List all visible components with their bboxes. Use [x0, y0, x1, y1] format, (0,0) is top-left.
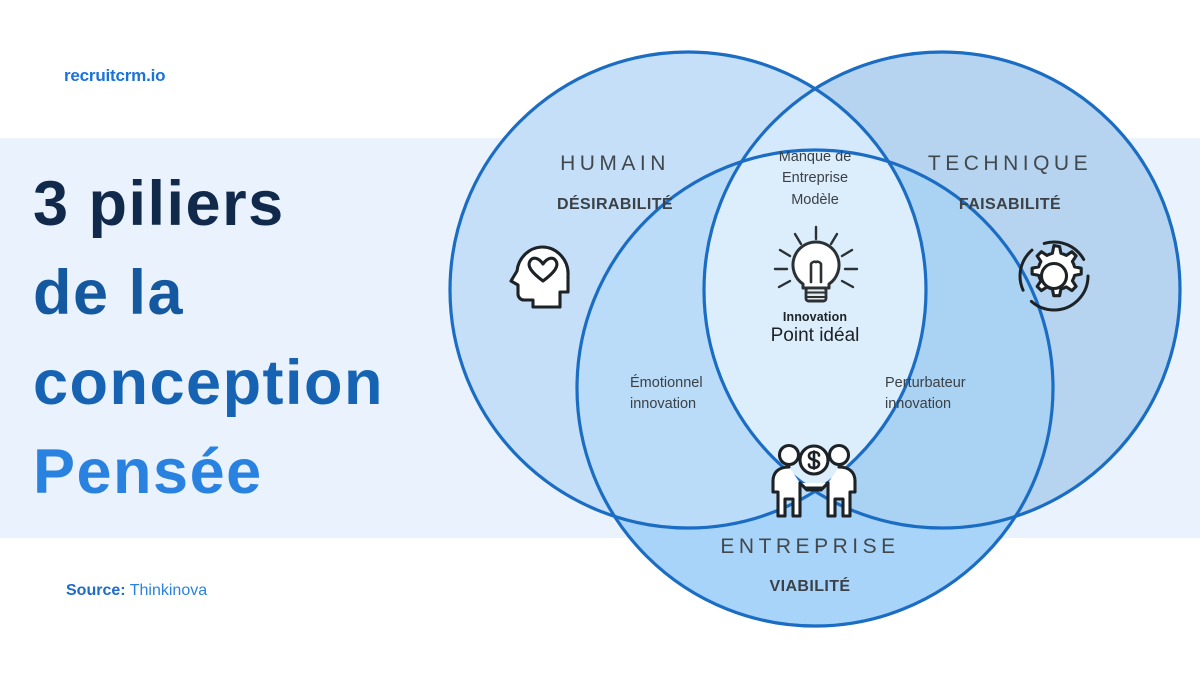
page-title-line-3: conception — [33, 339, 453, 428]
gear-icon — [1015, 237, 1093, 315]
head-heart-icon — [508, 236, 580, 314]
venn-svg — [430, 0, 1200, 675]
page-title-line-4: Pensée — [33, 428, 453, 517]
page-title-line-1: 3 piliers — [33, 160, 453, 249]
source-credit: Source: Thinkinova — [66, 582, 207, 600]
lightbulb-icon — [770, 224, 862, 308]
page-title: 3 piliers de la conception Pensée — [33, 160, 453, 518]
source-label: Source: — [66, 582, 126, 599]
venn-diagram: HUMAIN DÉSIRABILITÉ TECHNIQUE FAISABILIT… — [430, 0, 1200, 675]
brand-logo-text: recruitcrm.io — [64, 66, 165, 86]
infographic-canvas: recruitcrm.io 3 piliers de la conception… — [0, 0, 1200, 675]
business-deal-icon — [765, 442, 863, 520]
source-value: Thinkinova — [130, 582, 207, 599]
page-title-line-2: de la — [33, 249, 453, 338]
